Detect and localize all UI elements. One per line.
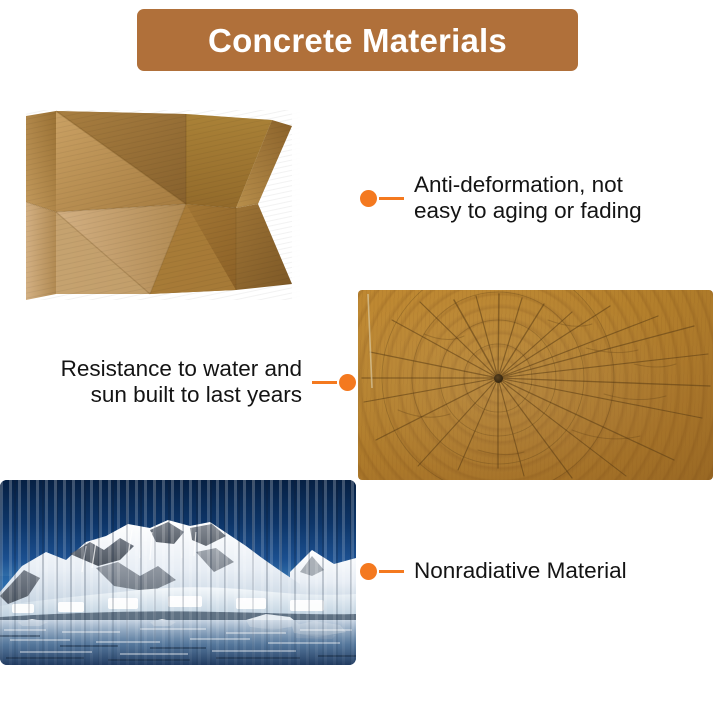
image-wood-end-grain-slab xyxy=(358,290,713,480)
image-faceted-wood-sculpture xyxy=(0,104,300,306)
leader-line xyxy=(312,381,337,384)
product-feature-infographic: Concrete Materials xyxy=(0,0,713,713)
faceted-wood-illustration xyxy=(0,104,300,306)
bullet-dot-icon xyxy=(360,563,377,580)
leader-line xyxy=(379,197,404,200)
page-title: Concrete Materials xyxy=(208,24,507,57)
callout-text-water-sun: Resistance to water and sun built to las… xyxy=(61,356,302,408)
wood-grain-cracks xyxy=(358,290,713,480)
facet-stage xyxy=(0,104,300,306)
callout-water-sun: Resistance to water and sun built to las… xyxy=(8,356,356,408)
callout-anti-deformation: Anti-deformation, not easy to aging or f… xyxy=(360,172,690,224)
bullet-dot-icon xyxy=(339,374,356,391)
water-reflection-texture xyxy=(0,480,356,665)
title-banner: Concrete Materials xyxy=(137,9,578,71)
image-snowy-mountain-glacier xyxy=(0,480,356,665)
bullet-dot-icon xyxy=(360,190,377,207)
leader-line xyxy=(379,570,404,573)
wood-knot-center xyxy=(494,374,503,383)
callout-nonradiative: Nonradiative Material xyxy=(360,558,690,584)
callout-text-anti-deformation: Anti-deformation, not easy to aging or f… xyxy=(414,172,642,224)
callout-text-nonradiative: Nonradiative Material xyxy=(414,558,627,584)
